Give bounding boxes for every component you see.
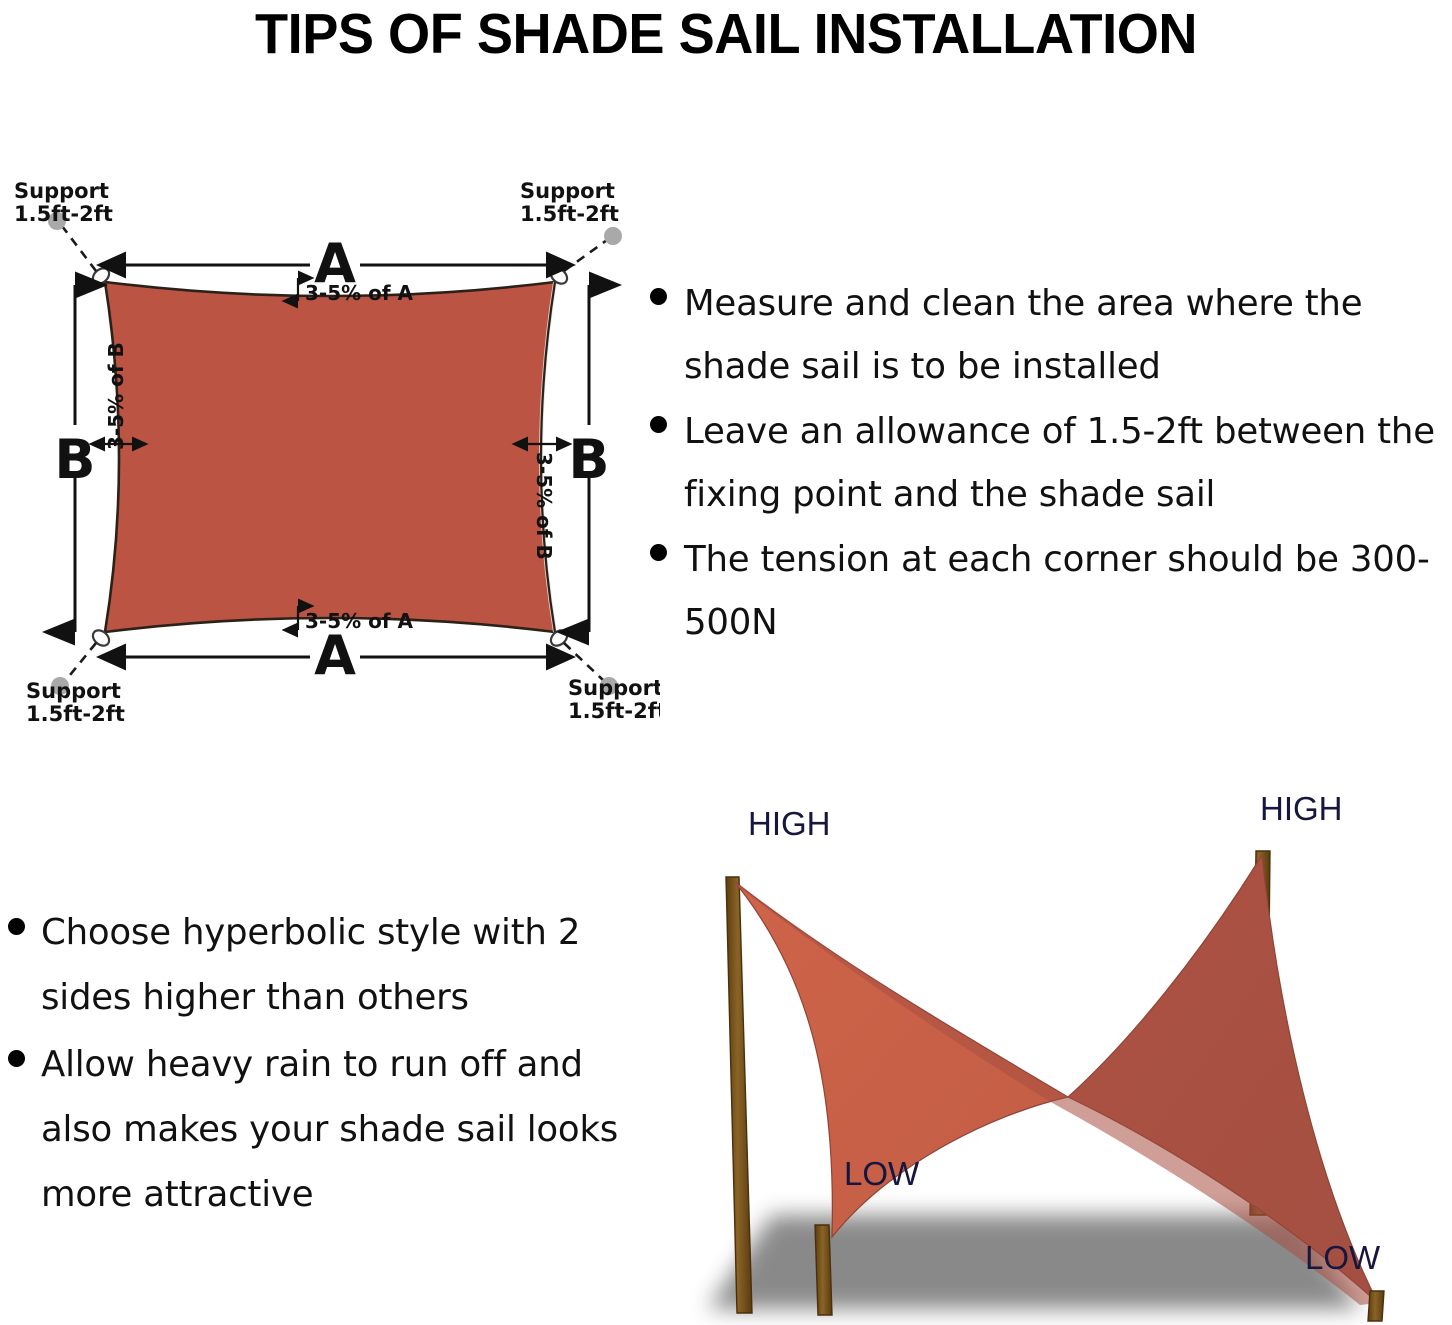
sag-annotation-b-right: 3-5% of B [528, 444, 556, 560]
list-item: Allow heavy rain to run off and also mak… [8, 1032, 628, 1227]
support-label-top-left: Support 1.5ft-2ft [14, 179, 113, 226]
list-item: Choose hyperbolic style with 2 sides hig… [8, 900, 628, 1030]
support-label-line2: 1.5ft-2ft [14, 202, 113, 226]
list-item: Measure and clean the area where the sha… [650, 272, 1452, 398]
bullet-dot-icon [8, 918, 25, 935]
sag-annotation-a-top: 3-5% of A [298, 278, 414, 305]
rectangular-sail-diagram: Support 1.5ft-2ft Support 1.5ft-2ft Supp… [0, 160, 660, 740]
hyperbolic-style-list: Choose hyperbolic style with 2 sides hig… [8, 900, 628, 1229]
page-title: TIPS OF SHADE SAIL INSTALLATION [36, 0, 1415, 68]
sag-label-a: 3-5% of A [305, 281, 414, 305]
support-label-bottom-left: Support 1.5ft-2ft [26, 679, 125, 726]
support-label-line1: Support [26, 679, 121, 703]
list-item-text: Leave an allowance of 1.5-2ft between th… [684, 400, 1444, 526]
bullet-dot-icon [650, 416, 667, 433]
list-item-text: Choose hyperbolic style with 2 sides hig… [41, 900, 621, 1030]
sag-label-b: 3-5% of B [532, 452, 556, 560]
sag-label-b: 3-5% of B [104, 342, 128, 450]
corner-label-high-left: HIGH [748, 805, 831, 842]
list-item-text: Allow heavy rain to run off and also mak… [41, 1032, 621, 1227]
support-post-front-left [815, 1225, 832, 1315]
corner-label-low-right: LOW [1305, 1239, 1381, 1276]
support-post-front-right [1368, 1291, 1384, 1321]
corner-label-high-right: HIGH [1260, 790, 1343, 827]
sail-body [105, 282, 555, 632]
dimension-label-a: A [314, 624, 356, 687]
bullet-dot-icon [650, 544, 667, 561]
support-label-line1: Support [520, 179, 615, 203]
support-label-line2: 1.5ft-2ft [568, 699, 660, 723]
dimension-label-b: B [568, 428, 609, 491]
dimension-a-bottom: A [126, 624, 546, 687]
support-label-line1: Support [14, 179, 109, 203]
support-label-line2: 1.5ft-2ft [520, 202, 619, 226]
support-label-line2: 1.5ft-2ft [26, 702, 125, 726]
corner-label-low-left: LOW [844, 1155, 920, 1192]
installation-tips-list: Measure and clean the area where the sha… [650, 272, 1452, 656]
support-label-line1: Support [568, 676, 660, 700]
support-post-far-left [726, 877, 752, 1313]
list-item-text: Measure and clean the area where the sha… [684, 272, 1444, 398]
dimension-b-right: B [568, 285, 609, 632]
dimension-b-left: B [54, 285, 95, 632]
list-item: Leave an allowance of 1.5-2ft between th… [650, 400, 1452, 526]
support-connection-top-right [564, 227, 622, 271]
sag-annotation-b-left: 3-5% of B [104, 342, 132, 450]
dimension-label-b: B [54, 428, 95, 491]
hyperbolic-sail-diagram: HIGH HIGH LOW LOW [660, 785, 1452, 1325]
list-item-text: The tension at each corner should be 300… [684, 528, 1444, 654]
support-point-dot [604, 227, 622, 245]
bullet-dot-icon [650, 288, 667, 305]
bullet-dot-icon [8, 1050, 25, 1067]
list-item: The tension at each corner should be 300… [650, 528, 1452, 654]
support-label-top-right: Support 1.5ft-2ft [520, 179, 619, 226]
support-label-bottom-right: Support 1.5ft-2ft [568, 676, 660, 723]
